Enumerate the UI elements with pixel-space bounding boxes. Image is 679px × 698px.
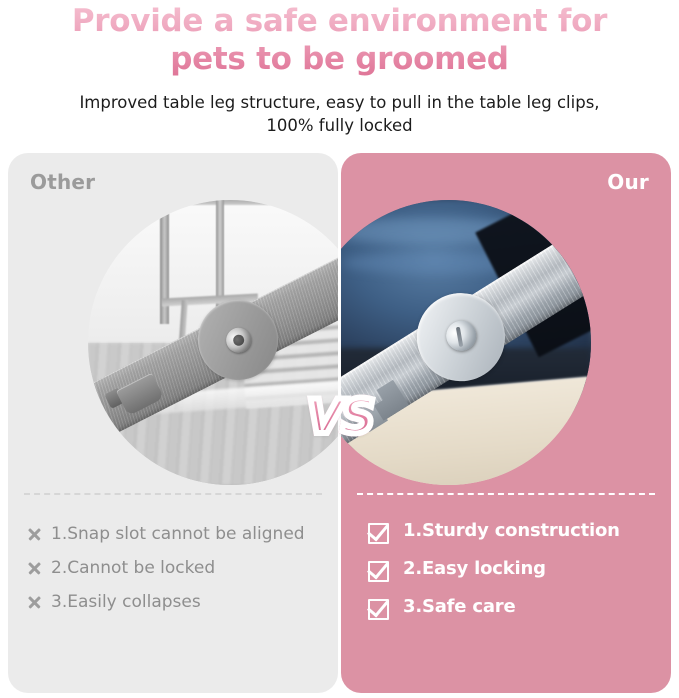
list-item: 1.Sturdy construction — [367, 517, 671, 544]
x-icon — [24, 555, 46, 582]
product-photo-other — [88, 200, 338, 485]
page-header: Provide a safe environment for pets to b… — [0, 0, 679, 137]
divider-our — [357, 493, 655, 495]
panel-label-other: Other — [30, 170, 95, 194]
product-photo-our — [341, 200, 591, 485]
list-item: 3.Safe care — [367, 593, 671, 620]
list-item: 2.Easy locking — [367, 555, 671, 582]
list-item-label: 1.Snap slot cannot be aligned — [51, 521, 305, 548]
photo-scene-other — [88, 200, 338, 485]
list-item-label: 3.Easily collapses — [51, 589, 201, 616]
versus-badge: VS — [302, 384, 378, 450]
x-icon — [24, 521, 46, 548]
check-box-icon — [367, 517, 393, 544]
feature-list-other: 1.Snap slot cannot be aligned 2.Cannot b… — [24, 521, 330, 623]
list-item-label: 2.Cannot be locked — [51, 555, 215, 582]
page-subtitle-line-2: 100% fully locked — [0, 114, 679, 137]
list-item-label: 1.Sturdy construction — [403, 517, 620, 544]
page-title-line-2: pets to be groomed — [0, 40, 679, 78]
check-box-icon — [367, 593, 393, 620]
page-subtitle: Improved table leg structure, easy to pu… — [0, 78, 679, 137]
page-subtitle-line-1: Improved table leg structure, easy to pu… — [0, 91, 679, 114]
photo-scene-our — [341, 200, 591, 485]
feature-list-our: 1.Sturdy construction 2.Easy locking 3.S… — [367, 517, 671, 631]
page-title-line-1: Provide a safe environment for — [0, 2, 679, 40]
check-box-icon — [367, 555, 393, 582]
list-item: 3.Easily collapses — [24, 589, 330, 616]
comparison-panel-our: Our — [341, 153, 671, 693]
list-item-label: 3.Safe care — [403, 593, 515, 620]
divider-other — [24, 493, 322, 495]
list-item: 2.Cannot be locked — [24, 555, 330, 582]
list-item-label: 2.Easy locking — [403, 555, 546, 582]
page-title: Provide a safe environment for pets to b… — [0, 0, 679, 78]
panel-label-our: Our — [607, 170, 649, 194]
versus-label: VS — [307, 394, 373, 441]
comparison-panel-other: Other — [8, 153, 338, 693]
x-icon — [24, 589, 46, 616]
list-item: 1.Snap slot cannot be aligned — [24, 521, 330, 548]
